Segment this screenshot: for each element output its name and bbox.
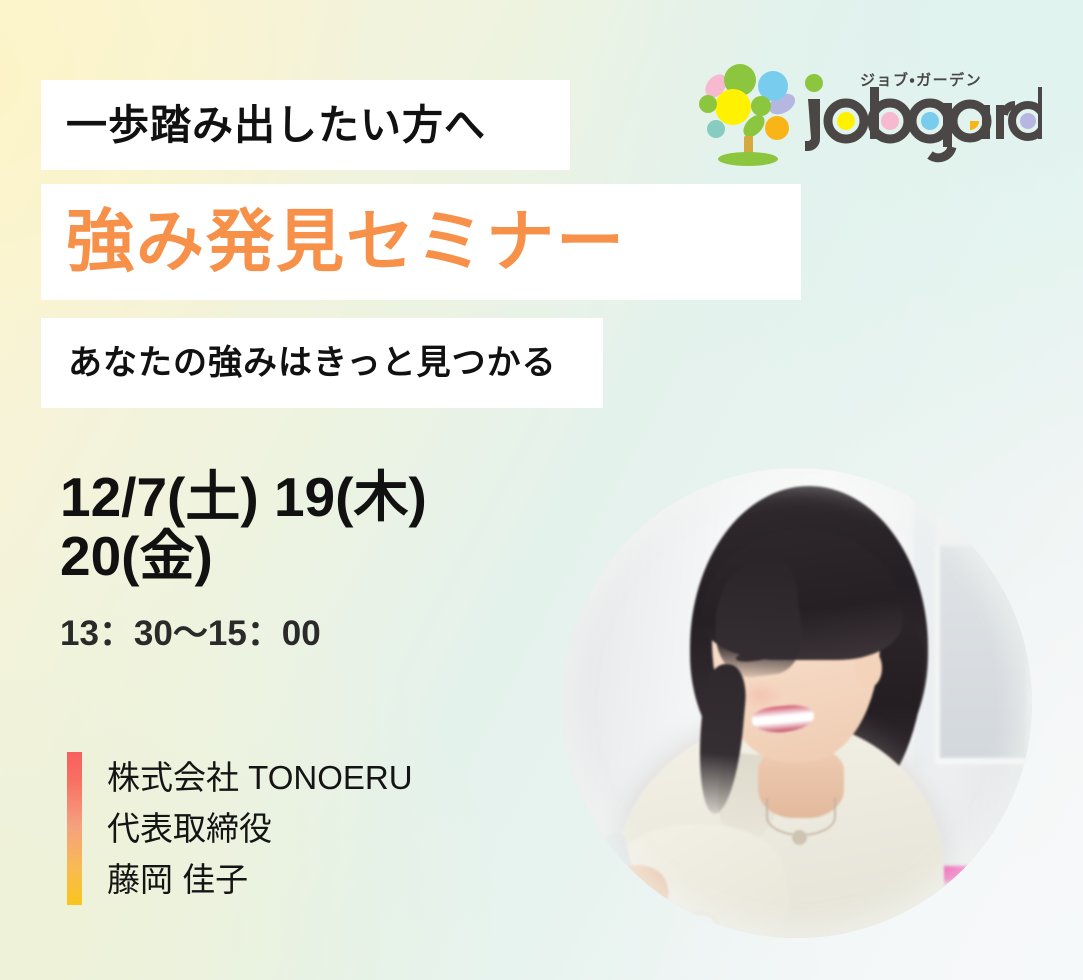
speaker-company: 株式会社 TONOERU: [107, 752, 413, 803]
speaker-name: 藤岡 佳子: [107, 854, 413, 905]
tree-logo-icon: [694, 60, 806, 170]
wordmark-katakana: ジョブ・ガーデン: [860, 71, 982, 89]
job-garden-logo[interactable]: ジョブ・ガーデン: [694, 55, 1044, 170]
speaker-accent-bar: [67, 752, 82, 905]
speaker-lines: 株式会社 TONOERU 代表取締役 藤岡 佳子: [107, 752, 413, 905]
kicker-box: 一歩踏み出したい方へ: [41, 80, 570, 170]
subtitle-box: あなたの強みはきっと見つかる: [41, 318, 603, 408]
seminar-poster: ジョブ・ガーデン: [0, 0, 1083, 980]
subtitle-text: あなたの強みはきっと見つかる: [68, 346, 557, 380]
date-line-2: 20(金): [60, 527, 560, 586]
title-box: 強み発見セミナー: [41, 184, 801, 300]
portrait-soft-light: [562, 468, 1032, 938]
job-garden-wordmark: ジョブ・ガーデン: [802, 59, 1042, 167]
time-text: 13：30〜15：00: [60, 605, 560, 656]
speaker-title: 代表取締役: [107, 803, 413, 854]
date-line-1: 12/7(土) 19(木): [60, 468, 560, 527]
speaker-block: 株式会社 TONOERU 代表取締役 藤岡 佳子: [67, 752, 413, 905]
kicker-text: 一歩踏み出したい方へ: [66, 105, 486, 146]
speaker-portrait-photo: [562, 468, 1032, 938]
page-title: 強み発見セミナー: [66, 208, 626, 276]
schedule-block: 12/7(土) 19(木) 20(金) 13：30〜15：00: [60, 468, 560, 656]
logo-j-dot: [805, 74, 823, 92]
